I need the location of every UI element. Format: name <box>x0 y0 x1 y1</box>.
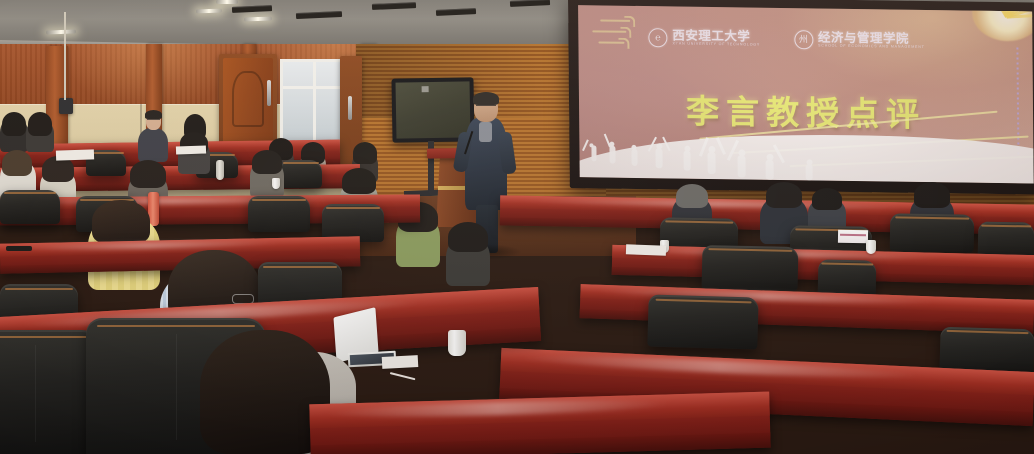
door-handle[interactable] <box>267 80 271 106</box>
seat-piping <box>895 216 969 219</box>
seat-piping <box>283 162 320 164</box>
seat-piping <box>263 266 337 268</box>
seat-piping <box>946 330 1029 334</box>
audience-hair <box>812 188 842 210</box>
audience-hair <box>28 112 52 136</box>
name-placard <box>838 230 868 244</box>
seat-piping <box>5 288 74 290</box>
paper-cup <box>272 178 280 189</box>
audience-hair <box>448 222 488 252</box>
audience-hair <box>353 142 377 164</box>
placard-text-line <box>840 234 866 236</box>
seat[interactable] <box>280 160 322 188</box>
door-arch-panel <box>232 71 264 127</box>
wall-control-panel[interactable] <box>59 98 73 114</box>
seat-piping <box>252 199 307 201</box>
paper-cup <box>448 330 466 356</box>
document-sheet <box>626 244 666 255</box>
seat-foreground[interactable] <box>0 330 100 454</box>
seat[interactable] <box>647 294 758 349</box>
document-sheet <box>56 149 94 160</box>
audience-hair <box>2 112 26 136</box>
seat-piping <box>982 224 1031 227</box>
seat-piping <box>665 220 734 223</box>
seat-seam <box>35 345 36 442</box>
seat-piping <box>97 325 255 327</box>
seat-piping <box>326 207 381 209</box>
desk-row-frontmost <box>309 392 770 454</box>
audience-hair <box>92 200 150 244</box>
screen-vignette <box>578 5 1034 183</box>
desk-mic-unit[interactable] <box>6 246 32 251</box>
seat-seam <box>176 334 177 440</box>
audience-glasses-icon <box>147 119 160 123</box>
seat[interactable] <box>248 196 310 232</box>
audience-hair <box>676 184 708 208</box>
seat-piping <box>822 262 873 265</box>
audience-hair <box>2 150 32 176</box>
pen[interactable] <box>390 372 416 380</box>
tv-camera-icon <box>422 86 429 92</box>
audience-hair <box>130 160 166 188</box>
seat-piping <box>4 192 57 194</box>
tv-screen <box>396 81 471 138</box>
conduit-pipe <box>64 12 66 100</box>
audience-member <box>138 128 168 162</box>
audience-hair <box>252 150 282 174</box>
screen-surface: ℮ 西安理工大学 XI'AN UNIVERSITY OF TECHNOLOGY … <box>578 5 1034 183</box>
seat-piping <box>708 248 793 252</box>
paper-cup <box>866 240 876 254</box>
seat[interactable] <box>702 245 799 291</box>
water-bottle <box>216 160 224 180</box>
speaker-glasses-icon <box>476 105 496 110</box>
audience-hair <box>914 182 950 208</box>
projection-screen[interactable]: ℮ 西安理工大学 XI'AN UNIVERSITY OF TECHNOLOGY … <box>568 0 1034 195</box>
door-handle[interactable] <box>348 96 352 120</box>
seat-piping <box>0 336 92 338</box>
lecture-hall-photo: ℮ 西安理工大学 XI'AN UNIVERSITY OF TECHNOLOGY … <box>0 0 1034 454</box>
room-interior: ℮ 西安理工大学 XI'AN UNIVERSITY OF TECHNOLOGY … <box>0 0 1034 454</box>
document-sheet <box>176 145 206 154</box>
audience-hair <box>342 168 376 194</box>
desk-edge <box>310 433 770 454</box>
audience-hair <box>145 110 162 119</box>
seat[interactable] <box>890 213 975 252</box>
speaker-hair <box>473 92 499 105</box>
seat-piping <box>655 298 752 303</box>
ceiling-light <box>216 0 238 4</box>
speaker-shirt <box>479 122 492 142</box>
seat[interactable] <box>0 190 60 224</box>
document-sheet <box>382 355 419 369</box>
audience-hair <box>766 182 802 208</box>
